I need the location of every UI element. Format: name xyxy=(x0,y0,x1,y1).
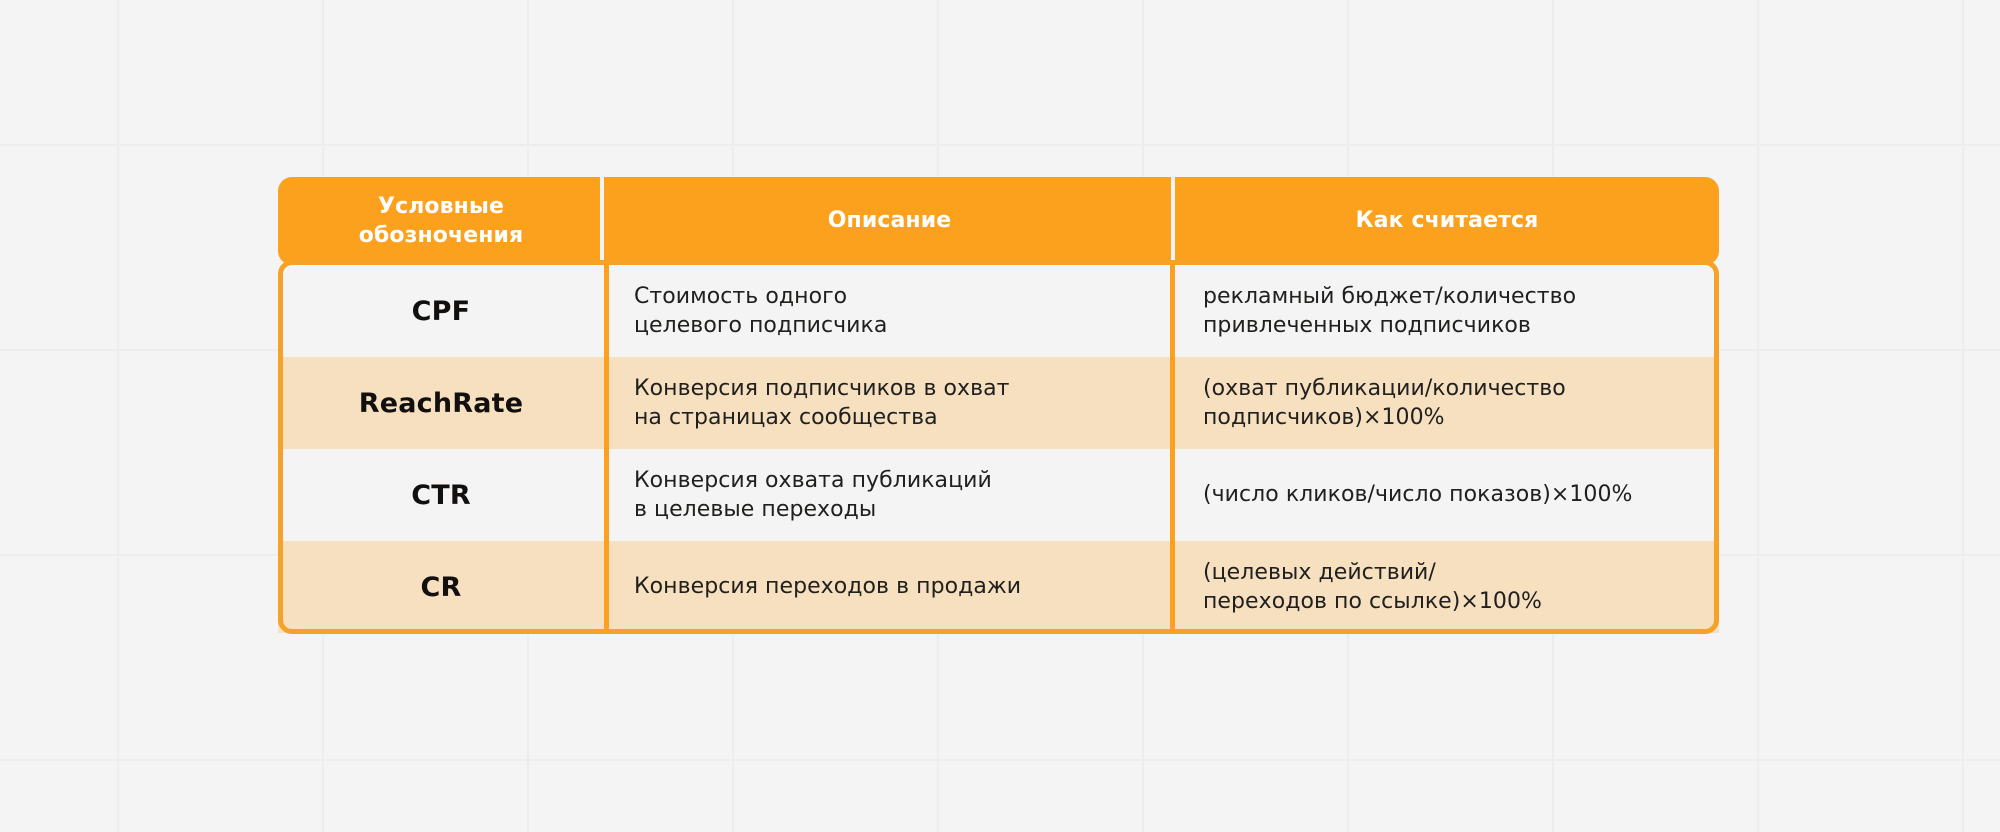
column-divider-1 xyxy=(604,265,609,634)
cell-metric-description: Стоимость одного целевого подписчика xyxy=(604,265,1175,357)
column-header-description: Описание xyxy=(604,177,1175,265)
table-row: CPF Стоимость одного целевого подписчика… xyxy=(278,265,1719,357)
column-header-calculation: Как считается xyxy=(1175,177,1719,265)
cell-metric-calculation: (охват публикации/количество подписчиков… xyxy=(1175,357,1719,449)
table-row: ReachRate Конверсия подписчиков в охват … xyxy=(278,357,1719,449)
metrics-table-container: Условные обозночения Описание Как считае… xyxy=(278,177,1719,634)
table-body: CPF Стоимость одного целевого подписчика… xyxy=(278,265,1719,633)
table-header-row: Условные обозночения Описание Как считае… xyxy=(278,177,1719,265)
page-canvas: Условные обозночения Описание Как считае… xyxy=(0,0,2000,832)
table-row: CTR Конверсия охвата публикаций в целевы… xyxy=(278,449,1719,541)
cell-metric-description: Конверсия охвата публикаций в целевые пе… xyxy=(604,449,1175,541)
table-header: Условные обозночения Описание Как считае… xyxy=(278,177,1719,265)
cell-metric-calculation: (целевых действий/ переходов по ссылке)×… xyxy=(1175,541,1719,633)
column-header-symbols: Условные обозночения xyxy=(278,177,604,265)
cell-metric-calculation: (число кликов/число показов)×100% xyxy=(1175,449,1719,541)
cell-metric-code: CR xyxy=(278,541,604,633)
cell-metric-calculation: рекламный бюджет/количество привлеченных… xyxy=(1175,265,1719,357)
column-divider-2 xyxy=(1170,265,1175,634)
cell-metric-code: CPF xyxy=(278,265,604,357)
cell-metric-description: Конверсия переходов в продажи xyxy=(604,541,1175,633)
table-row: CR Конверсия переходов в продажи (целевы… xyxy=(278,541,1719,633)
cell-metric-code: ReachRate xyxy=(278,357,604,449)
cell-metric-code: CTR xyxy=(278,449,604,541)
cell-metric-description: Конверсия подписчиков в охват на страниц… xyxy=(604,357,1175,449)
metrics-table: Условные обозночения Описание Как считае… xyxy=(278,177,1719,633)
